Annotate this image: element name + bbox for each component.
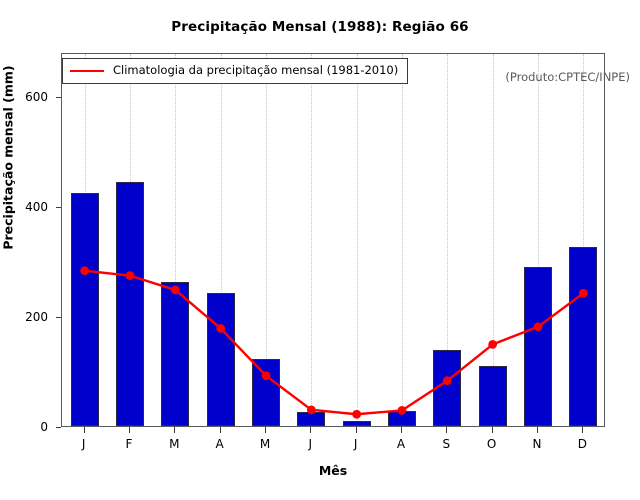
climatology-line-series [62,54,604,426]
climatology-point-3 [216,324,225,333]
x-axis-label: Mês [61,463,605,478]
x-tick-label-2: M [154,437,194,451]
legend-item-label: Climatologia da precipitação mensal (198… [113,65,398,77]
y-tick-label-3: 600 [8,90,48,104]
x-tick-mark-9 [492,427,493,433]
climatology-point-7 [398,406,407,415]
x-tick-label-9: O [472,437,512,451]
climatology-point-0 [80,266,89,275]
y-axis-label: Precipitação mensal (mm) [1,58,16,258]
page-title: Precipitação Mensal (1988): Região 66 [0,19,640,35]
climatology-point-1 [126,271,135,280]
x-tick-mark-5 [310,427,311,433]
climatology-markers [80,266,587,418]
chart-figure: Precipitação Mensal (1988): Região 66 Pr… [0,0,640,500]
climatology-point-10 [534,322,543,331]
climatology-point-11 [579,289,588,298]
x-tick-label-11: D [562,437,602,451]
x-tick-mark-1 [129,427,130,433]
x-tick-label-8: S [426,437,466,451]
x-tick-label-1: F [109,437,149,451]
x-tick-label-3: A [200,437,240,451]
plot-area [61,53,605,427]
x-tick-label-10: N [517,437,557,451]
x-tick-mark-11 [582,427,583,433]
climatology-point-4 [262,371,271,380]
climatology-point-5 [307,405,316,414]
producer-note: (Produto:CPTEC/INPE) [505,70,630,84]
y-tick-label-1: 200 [8,310,48,324]
x-tick-label-0: J [64,437,104,451]
legend: Climatologia da precipitação mensal (198… [62,58,408,84]
legend-line-swatch [70,70,104,72]
x-tick-mark-6 [356,427,357,433]
x-tick-mark-10 [537,427,538,433]
x-tick-mark-3 [220,427,221,433]
y-tick-label-2: 400 [8,200,48,214]
climatology-point-8 [443,376,452,385]
x-tick-label-7: A [381,437,421,451]
x-tick-mark-8 [446,427,447,433]
climatology-point-9 [488,340,497,349]
x-tick-mark-4 [265,427,266,433]
x-tick-mark-2 [174,427,175,433]
climatology-line-svg [62,54,606,428]
climatology-polyline [85,271,584,415]
x-tick-label-5: J [290,437,330,451]
x-tick-mark-7 [401,427,402,433]
y-tick-label-0: 0 [8,420,48,434]
climatology-point-2 [171,286,180,295]
x-tick-label-6: J [336,437,376,451]
y-tick-mark-0 [56,427,61,428]
climatology-point-6 [352,410,361,419]
x-tick-label-4: M [245,437,285,451]
x-tick-mark-0 [84,427,85,433]
